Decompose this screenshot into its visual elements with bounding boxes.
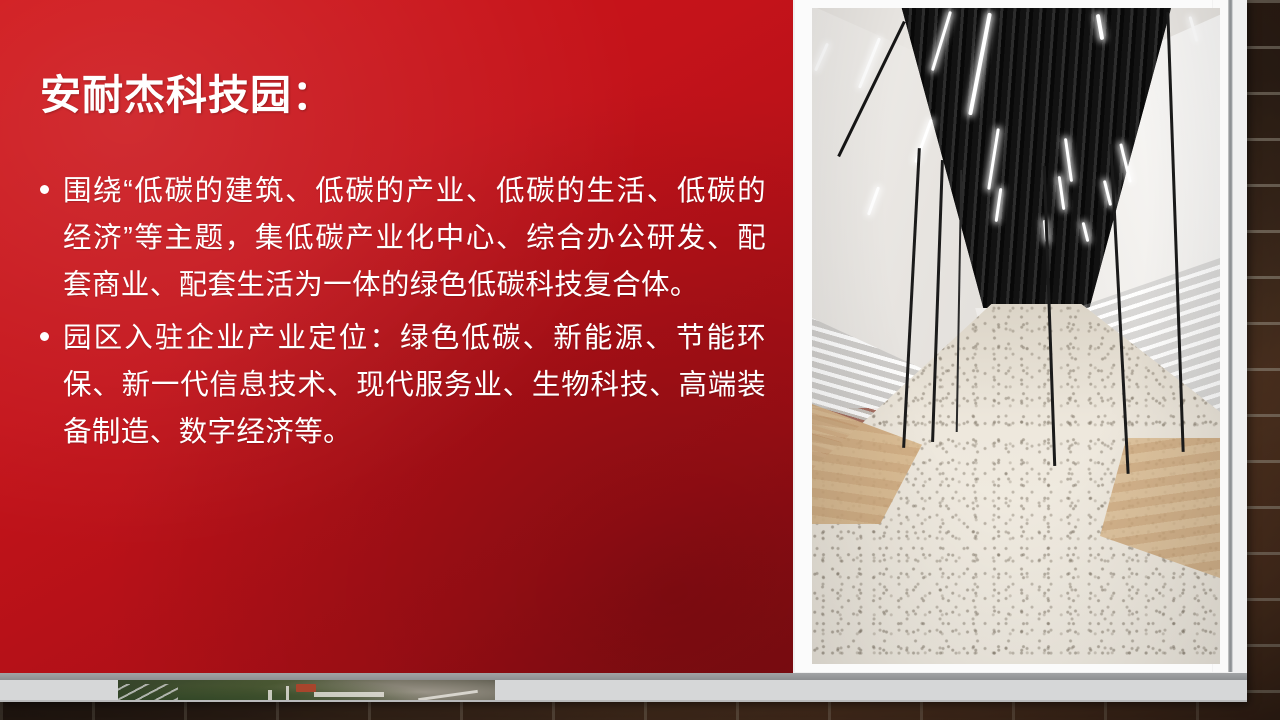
aerial-red-roof [296,684,316,692]
slide-bottom-edge [0,700,1247,702]
bullet-list: 围绕“低碳的建筑、低碳的产业、低碳的生活、低碳的经济”等主题，集低碳产业化中心、… [36,168,766,456]
presentation-slide: 安耐杰科技园： 围绕“低碳的建筑、低碳的产业、低碳的生活、低碳的经济”等主题，集… [0,0,1247,702]
list-item: 园区入驻企业产业定位：绿色低碳、新能源、节能环保、新一代信息技术、现代服务业、生… [36,315,766,456]
photo-mat [812,8,1220,664]
list-item: 围绕“低碳的建筑、低碳的产业、低碳的生活、低碳的经济”等主题，集低碳产业化中心、… [36,168,766,309]
bullet-dot-icon [40,332,49,341]
page-title: 安耐杰科技园： [40,72,334,119]
bullet-dot-icon [40,185,49,194]
aerial-structure [314,692,384,697]
list-item-text: 围绕“低碳的建筑、低碳的产业、低碳的生活、低碳的经济”等主题，集低碳产业化中心、… [63,175,766,301]
office-corridor-photo-frame [795,0,1213,672]
bottom-gray-divider [0,673,1247,680]
red-content-panel: 安耐杰科技园： 围绕“低碳的建筑、低碳的产业、低碳的生活、低碳的经济”等主题，集… [0,0,793,673]
bottom-right-light-box [495,680,1247,700]
aerial-park-photo [118,680,495,702]
office-corridor-photo [812,8,1220,664]
bottom-left-light-box [0,680,118,702]
list-item-text: 园区入驻企业产业定位：绿色低碳、新能源、节能环保、新一代信息技术、现代服务业、生… [63,322,766,448]
slide-right-gray-rule [1228,0,1233,672]
